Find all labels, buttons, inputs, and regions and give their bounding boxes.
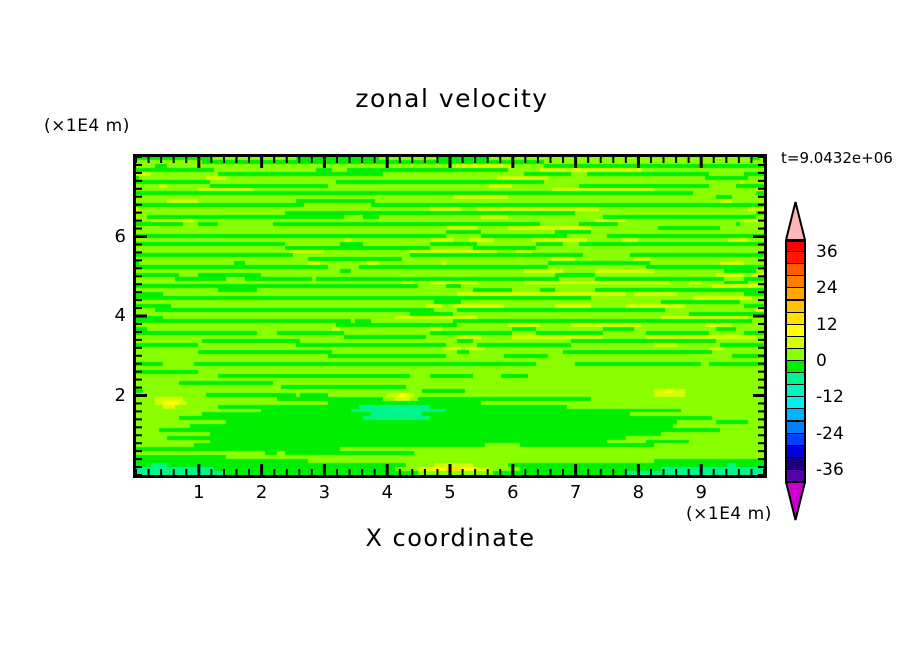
y-axis-unit-label: (×1E4 m): [44, 116, 130, 136]
x-tick-label: 4: [372, 482, 402, 503]
colorbar-tick-label: -36: [816, 460, 844, 480]
x-tick-label: 2: [247, 482, 277, 503]
colorbar-under-arrow: [785, 481, 806, 521]
x-tick-label: 7: [561, 482, 591, 503]
colorbar-tick-label: 0: [816, 351, 827, 371]
colorbar-tick-label: 24: [816, 278, 838, 298]
y-tick-label: 4: [96, 305, 126, 326]
x-tick-label: 8: [623, 482, 653, 503]
x-axis-unit-label: (×1E4 m): [686, 504, 772, 524]
x-tick-label: 5: [435, 482, 465, 503]
x-tick-label: 3: [309, 482, 339, 503]
page-title: zonal velocity: [0, 84, 904, 113]
x-tick-label: 6: [498, 482, 528, 503]
colorbar: 3624120-12-24-36: [780, 202, 816, 520]
y-tick-label: 2: [96, 385, 126, 406]
x-axis-title: X coordinate: [134, 524, 767, 552]
colorbar-over-arrow: [785, 201, 806, 241]
colorbar-tick-label: -24: [816, 424, 844, 444]
colorbar-tick-label: -12: [816, 387, 844, 407]
plot-canvas: zonal velocity (×1E4 m) t=9.0432e+06 123…: [0, 0, 904, 654]
y-tick-label: 6: [96, 226, 126, 247]
colorbar-tick-label: 36: [816, 242, 838, 262]
colorbar-tick-label: 12: [816, 315, 838, 335]
scalar-field-image: [136, 157, 764, 475]
timestamp-annotation: t=9.0432e+06: [781, 149, 893, 167]
contour-plot-area: [133, 154, 767, 478]
x-tick-label: 9: [686, 482, 716, 503]
x-tick-label: 1: [184, 482, 214, 503]
